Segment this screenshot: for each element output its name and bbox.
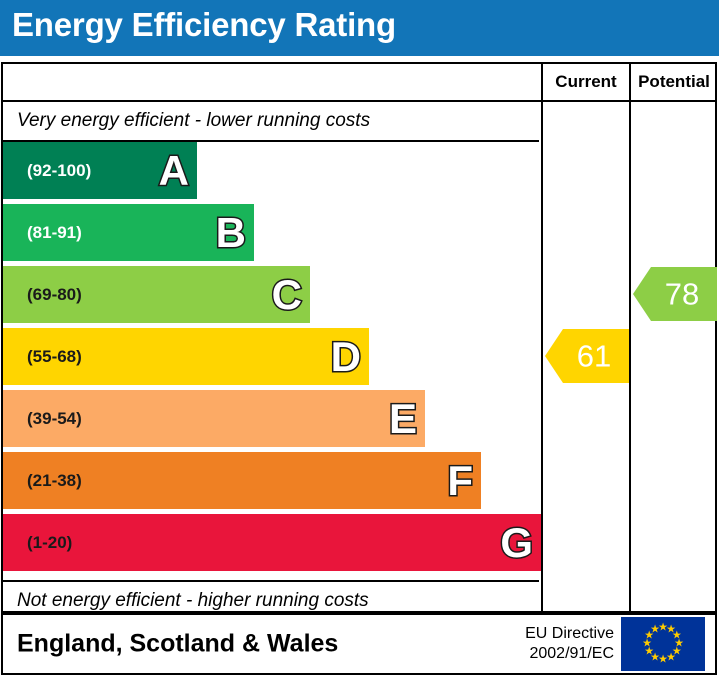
- column-header-current: Current: [541, 64, 629, 100]
- footer-region-label: England, Scotland & Wales: [17, 630, 338, 659]
- band-g: (1-20)G: [3, 514, 541, 571]
- band-range-c: (69-80): [27, 285, 82, 305]
- rating-value-current: 61: [565, 341, 623, 372]
- column-header-potential: Potential: [629, 64, 717, 100]
- rating-value-potential: 78: [653, 279, 711, 310]
- page-title: Energy Efficiency Rating: [12, 6, 396, 44]
- band-a: (92-100)A: [3, 142, 197, 199]
- caption-efficient: Very energy efficient - lower running co…: [17, 110, 370, 132]
- footer-directive-line2: 2002/91/EC: [525, 644, 614, 664]
- footer-directive: EU Directive 2002/91/EC: [525, 624, 614, 664]
- band-letter-g: G: [500, 522, 533, 564]
- band-letter-b: B: [216, 212, 246, 254]
- title-bar: Energy Efficiency Rating: [0, 0, 719, 56]
- column-divider-current: [541, 102, 543, 613]
- band-letter-f: F: [447, 460, 473, 502]
- energy-efficiency-certificate: Energy Efficiency Rating Current Potenti…: [0, 0, 719, 676]
- rating-table: Current Potential Very energy efficient …: [1, 62, 717, 613]
- caption-rule-bottom: [3, 580, 539, 582]
- eu-flag-icon: ★★★★★★★★★★★★: [621, 617, 705, 671]
- caption-inefficient: Not energy efficient - higher running co…: [17, 590, 369, 612]
- band-range-a: (92-100): [27, 161, 91, 181]
- table-header-row: Current Potential: [3, 64, 715, 102]
- band-range-f: (21-38): [27, 471, 82, 491]
- band-c: (69-80)C: [3, 266, 310, 323]
- band-range-b: (81-91): [27, 223, 82, 243]
- footer-directive-line1: EU Directive: [525, 624, 614, 644]
- band-letter-d: D: [331, 336, 361, 378]
- band-range-d: (55-68): [27, 347, 82, 367]
- eu-flag-star: ★: [650, 625, 660, 636]
- rating-arrow-current: 61: [545, 329, 629, 383]
- band-letter-a: A: [159, 150, 189, 192]
- band-range-g: (1-20): [27, 533, 72, 553]
- band-letter-c: C: [272, 274, 302, 316]
- band-f: (21-38)F: [3, 452, 481, 509]
- footer: England, Scotland & Wales EU Directive 2…: [1, 613, 717, 675]
- band-letter-e: E: [389, 398, 417, 440]
- column-divider-potential: [629, 102, 631, 613]
- band-e: (39-54)E: [3, 390, 425, 447]
- band-range-e: (39-54): [27, 409, 82, 429]
- band-b: (81-91)B: [3, 204, 254, 261]
- rating-arrow-potential: 78: [633, 267, 717, 321]
- band-d: (55-68)D: [3, 328, 369, 385]
